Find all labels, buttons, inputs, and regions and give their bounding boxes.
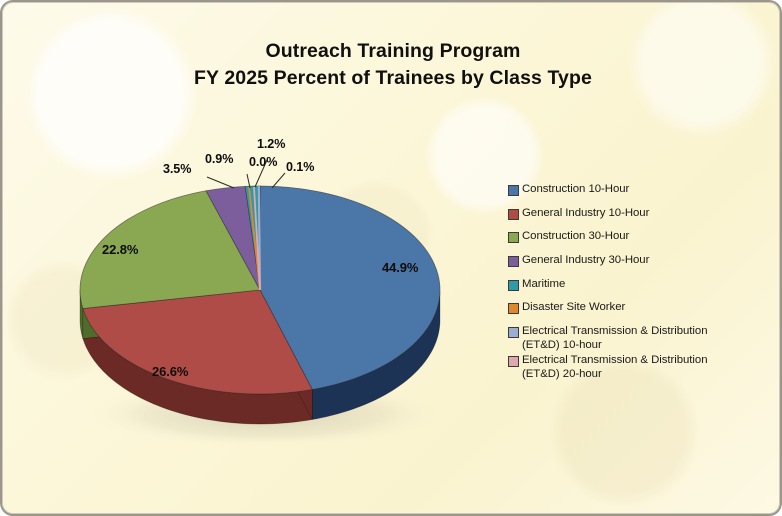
legend-item-label: Electrical Transmission & Distribution (… — [522, 353, 744, 381]
legend-item[interactable]: General Industry 30-Hour — [508, 253, 744, 267]
chart-title: Outreach Training Program FY 2025 Percen… — [2, 38, 782, 91]
leader-line-gi30 — [207, 177, 234, 188]
legend-item[interactable]: Electrical Transmission & Distribution (… — [508, 324, 744, 352]
legend-item[interactable]: Construction 10-Hour — [508, 182, 744, 196]
legend-swatch-icon — [508, 256, 519, 267]
legend-swatch-icon — [508, 327, 519, 338]
legend-item[interactable]: Construction 30-Hour — [508, 229, 744, 243]
legend-swatch-icon — [508, 356, 519, 367]
chart-title-line-1: Outreach Training Program — [2, 38, 782, 65]
legend-swatch-icon — [508, 209, 519, 220]
legend-item[interactable]: Disaster Site Worker — [508, 300, 744, 314]
data-label-construction-10: 44.9% — [382, 260, 418, 275]
data-label-general-industry-10: 26.6% — [152, 364, 188, 379]
data-label-etd-10: 0.1% — [286, 160, 314, 174]
legend-swatch-icon — [508, 232, 519, 243]
data-label-maritime: 1.2% — [257, 137, 285, 151]
data-label-disaster-site-worker: 0.0% — [249, 155, 277, 169]
legend-swatch-icon — [508, 185, 519, 196]
legend-swatch-icon — [508, 303, 519, 314]
legend-item-label: Construction 30-Hour — [522, 229, 629, 243]
legend-item-label: Electrical Transmission & Distribution (… — [522, 324, 744, 352]
pie-top-faces — [80, 186, 440, 394]
chart-panel: Outreach Training Program FY 2025 Percen… — [0, 0, 782, 516]
legend-item-label: Disaster Site Worker — [522, 300, 625, 314]
data-label-construction-30: 22.8% — [102, 242, 138, 257]
chart-legend: Construction 10-HourGeneral Industry 10-… — [508, 182, 744, 382]
leader-line-etd10 — [272, 173, 285, 188]
data-label-maritime-pct: 0.9% — [205, 152, 233, 166]
legend-item-label: Construction 10-Hour — [522, 182, 629, 196]
legend-swatch-icon — [508, 280, 519, 291]
chart-title-line-2: FY 2025 Percent of Trainees by Class Typ… — [2, 65, 782, 92]
legend-item[interactable]: General Industry 10-Hour — [508, 206, 744, 220]
legend-item-label: Maritime — [522, 277, 565, 291]
legend-item[interactable]: Electrical Transmission & Distribution (… — [508, 353, 744, 381]
legend-item-label: General Industry 30-Hour — [522, 253, 649, 267]
legend-item[interactable]: Maritime — [508, 277, 744, 291]
legend-item-label: General Industry 10-Hour — [522, 206, 649, 220]
data-label-general-industry-30: 3.5% — [163, 162, 191, 176]
